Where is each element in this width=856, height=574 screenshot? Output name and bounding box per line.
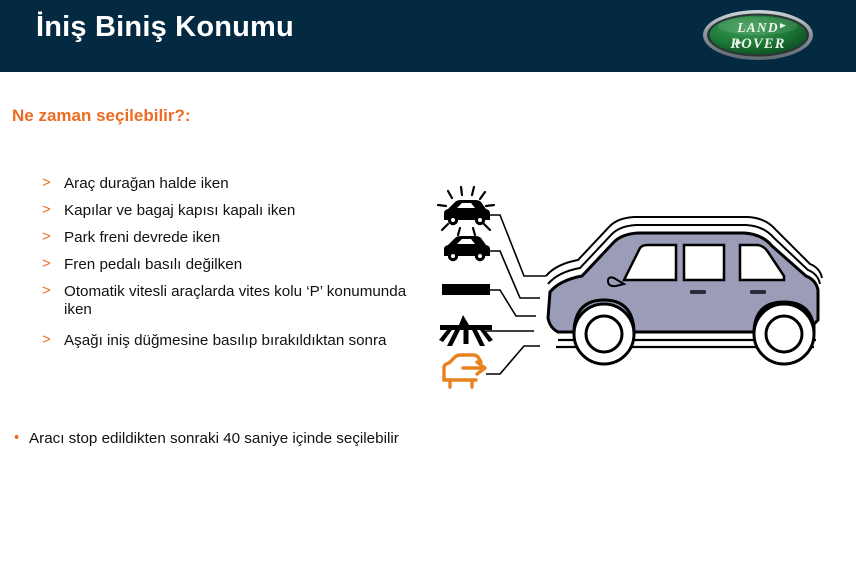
arrow-bullet-icon: > [42, 255, 51, 273]
rear-wheel [754, 302, 814, 364]
list-item: > Park freni devrede iken [42, 229, 427, 247]
list-item-label: Kapılar ve bagaj kapısı kapalı iken [64, 202, 295, 219]
dot-bullet-icon: • [14, 429, 19, 447]
land-rover-logo: LAND ROVER [702, 9, 814, 61]
solid-bar-icon [442, 284, 490, 295]
list-item: > Kapılar ve bagaj kapısı kapalı iken [42, 202, 427, 220]
list-item: > Fren pedalı basılı değilken [42, 256, 427, 274]
arrow-bullet-icon: > [42, 331, 51, 349]
list-item-label: Otomatik vitesli araçlarda vites kolu ‘P… [64, 283, 406, 318]
list-item: • Aracı stop edildikten sonraki 40 saniy… [12, 430, 432, 449]
car-hazard-lights-icon [438, 187, 494, 235]
list-item-label: Araç durağan halde iken [64, 175, 229, 192]
note-list: • Aracı stop edildikten sonraki 40 saniy… [12, 430, 432, 449]
section-heading: Ne zaman seçilebilir?: [12, 106, 191, 126]
list-item-label: Aracı stop edildikten sonraki 40 saniye … [29, 430, 399, 447]
suv-side-view [546, 217, 822, 364]
list-item: > Araç durağan halde iken [42, 175, 427, 193]
access-height-icon [444, 355, 485, 387]
bridge-overpass-icon [439, 315, 493, 346]
logo-line-1: LAND [736, 20, 779, 35]
arrow-bullet-icon: > [42, 228, 51, 246]
condition-list: > Araç durağan halde iken > Kapılar ve b… [42, 175, 427, 359]
list-item-label: Fren pedalı basılı değilken [64, 256, 242, 273]
arrow-bullet-icon: > [42, 282, 51, 300]
leader-lines [486, 215, 546, 374]
list-item-label: Park freni devrede iken [64, 229, 220, 246]
car-plain-icon [444, 236, 490, 261]
arrow-bullet-icon: > [42, 201, 51, 219]
list-item: > Otomatik vitesli araçlarda vites kolu … [42, 283, 427, 319]
arrow-bullet-icon: > [42, 174, 51, 192]
list-item: > Aşağı iniş düğmesine basılıp bırakıldı… [42, 332, 427, 350]
access-height-diagram [428, 168, 848, 408]
page-title: İniş Biniş Konumu [36, 11, 294, 44]
list-item-label: Aşağı iniş düğmesine basılıp bırakıldıkt… [64, 332, 387, 349]
